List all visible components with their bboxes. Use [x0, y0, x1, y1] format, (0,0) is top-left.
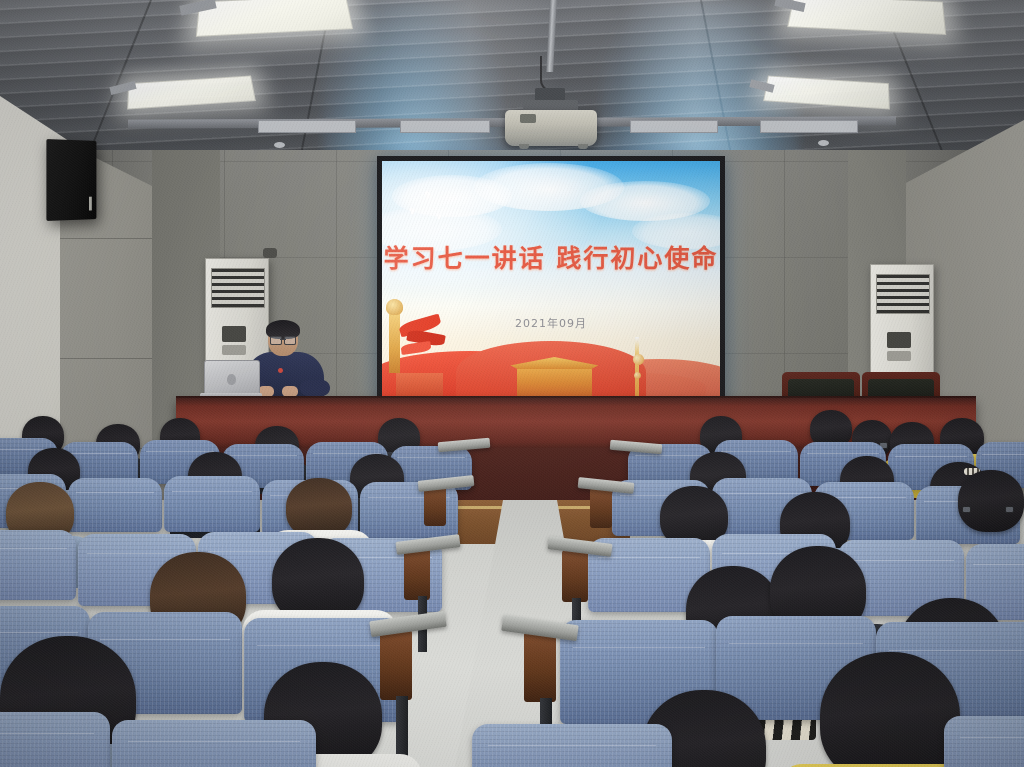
- projector-foot: [519, 144, 529, 149]
- ceiling-vent: [400, 120, 490, 133]
- presenter-arm: [300, 380, 330, 396]
- presenter-glasses-icon: [270, 336, 296, 343]
- projector-foot: [578, 144, 588, 149]
- ceiling-projector: [505, 110, 597, 146]
- wall-camera-icon: [263, 248, 277, 258]
- seat-armrest: [424, 486, 446, 526]
- tv-tower-sphere: [634, 372, 641, 379]
- ac-display: [887, 332, 911, 348]
- projector-lens-icon: [520, 114, 536, 123]
- conference-hall-photo: ❥ ❥ ❥ 学习七一讲话 践行初心使命 2021年09月: [0, 0, 1024, 767]
- laptop: [200, 360, 262, 400]
- presenter-badge: [278, 368, 283, 373]
- auditorium-seat[interactable]: [68, 478, 162, 532]
- ceiling-vent: [258, 120, 356, 133]
- red-ribbon-graphic: [399, 315, 455, 355]
- monument-statue: [386, 299, 403, 315]
- slide-skyline-graphic: [382, 305, 720, 403]
- tv-tower-sphere: [633, 354, 644, 365]
- auditorium-seat[interactable]: [164, 476, 260, 532]
- projector-cable: [540, 56, 564, 92]
- laptop-lid: [204, 360, 260, 396]
- ceiling-vent: [760, 120, 858, 133]
- slide-title: 学习七一讲话 践行初心使命: [382, 239, 720, 275]
- seat-armrest: [562, 550, 588, 602]
- dove-icon: ❥: [408, 206, 418, 217]
- auditorium-seat[interactable]: [472, 724, 672, 767]
- seat-armrest: [380, 630, 412, 700]
- smoke-detector-icon: [818, 140, 829, 146]
- ceiling-vent: [630, 120, 718, 133]
- auditorium-seat[interactable]: [944, 716, 1024, 767]
- tv-tower-graphic: [635, 337, 639, 399]
- projection-screen: ❥ ❥ ❥ 学习七一讲话 践行初心使命 2021年09月: [382, 161, 720, 403]
- laptop-logo-icon: [227, 374, 236, 385]
- seat-armrest: [590, 488, 612, 528]
- ceiling: [0, 0, 1024, 175]
- auditorium-seat[interactable]: [0, 530, 76, 600]
- auditorium-seat[interactable]: [112, 720, 316, 767]
- dove-icon: ❥: [435, 212, 443, 221]
- ac-grille-icon: [211, 268, 265, 308]
- seat-armrest: [404, 548, 430, 600]
- speaker-label: [89, 197, 92, 211]
- projection-screen-frame: ❥ ❥ ❥ 学习七一讲话 践行初心使命 2021年09月: [377, 156, 725, 408]
- smoke-detector-icon: [274, 142, 285, 148]
- auditorium-seat[interactable]: [0, 712, 110, 767]
- ac-panel: [887, 351, 911, 361]
- seat-armrest: [524, 632, 556, 702]
- wall-speaker: [46, 139, 96, 221]
- ac-grille-icon: [876, 274, 930, 314]
